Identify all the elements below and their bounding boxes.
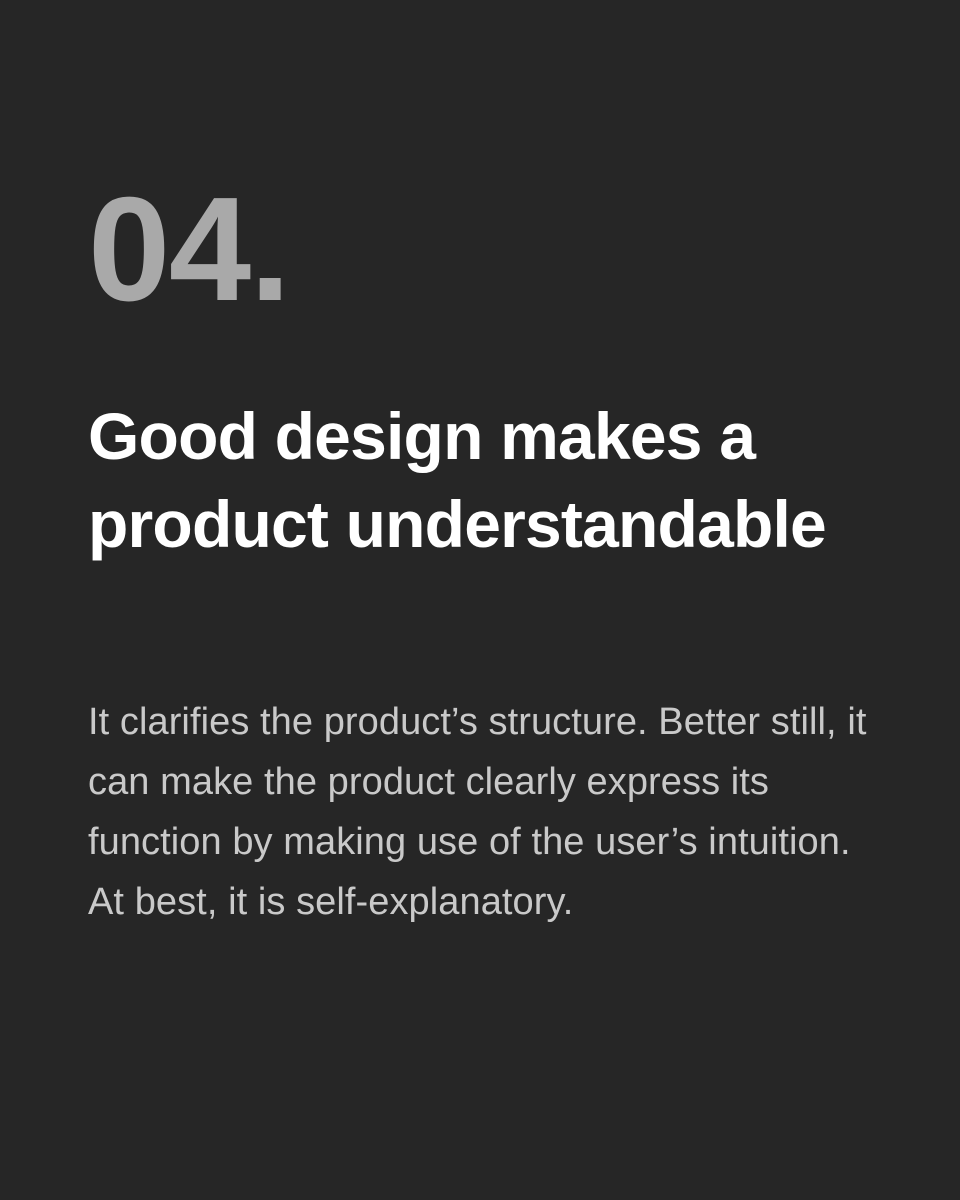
card-headline: Good design makes a product understandab… (88, 392, 878, 568)
step-number: 04. (88, 176, 289, 324)
design-principle-card: 04. Good design makes a product understa… (0, 0, 960, 1200)
card-content: 04. Good design makes a product understa… (88, 0, 888, 1200)
card-body-text: It clarifies the product’s structure. Be… (88, 692, 888, 932)
